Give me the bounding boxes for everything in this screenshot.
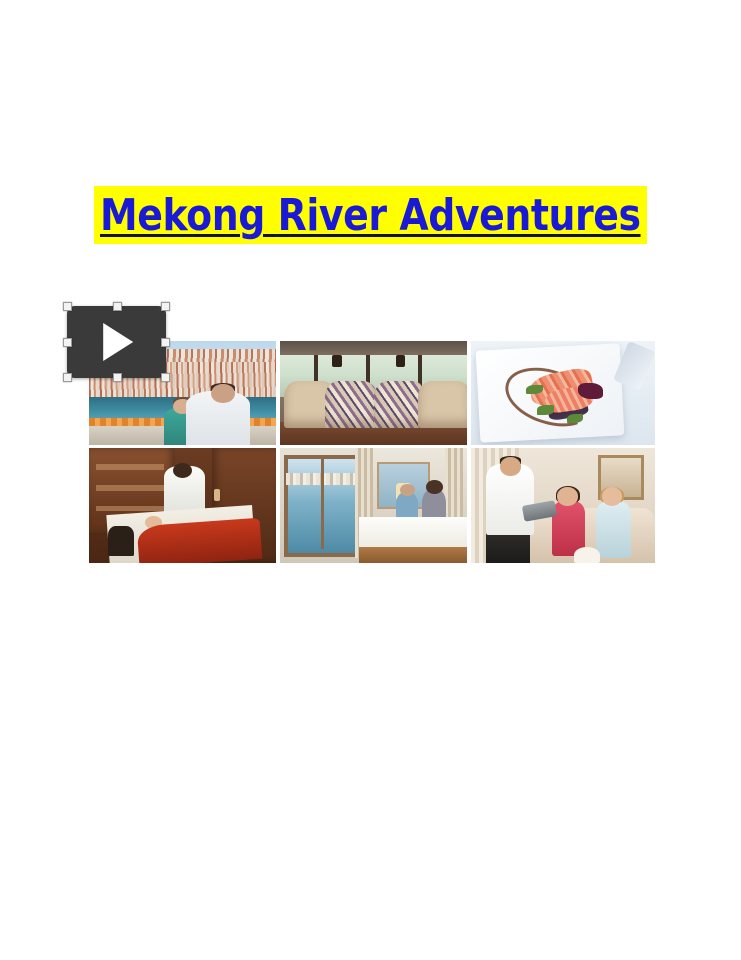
collage-image-spa-treatment — [89, 448, 276, 563]
embedded-video-placeholder[interactable] — [67, 306, 166, 378]
resize-handle-top-left[interactable] — [63, 302, 72, 311]
collage-image-cabin-stateroom — [280, 448, 467, 563]
title-block: Mekong River Adventures — [0, 186, 741, 244]
resize-handle-bottom-center[interactable] — [113, 373, 122, 382]
resize-handle-top-right[interactable] — [161, 302, 170, 311]
resize-handle-middle-right[interactable] — [161, 338, 170, 347]
resize-handle-bottom-left[interactable] — [63, 373, 72, 382]
river-cruise-photo-collage — [89, 341, 655, 563]
resize-handle-bottom-right[interactable] — [161, 373, 170, 382]
collage-image-steward-service — [471, 448, 655, 563]
collage-image-ship-lounge — [280, 341, 467, 445]
slide-canvas: Mekong River Adventures — [0, 0, 741, 960]
page-title: Mekong River Adventures — [94, 186, 647, 244]
resize-handle-middle-left[interactable] — [63, 338, 72, 347]
collage-image-gourmet-dish — [471, 341, 655, 445]
play-triangle-icon[interactable] — [103, 323, 133, 361]
video-frame[interactable] — [67, 306, 166, 378]
resize-handle-top-center[interactable] — [113, 302, 122, 311]
